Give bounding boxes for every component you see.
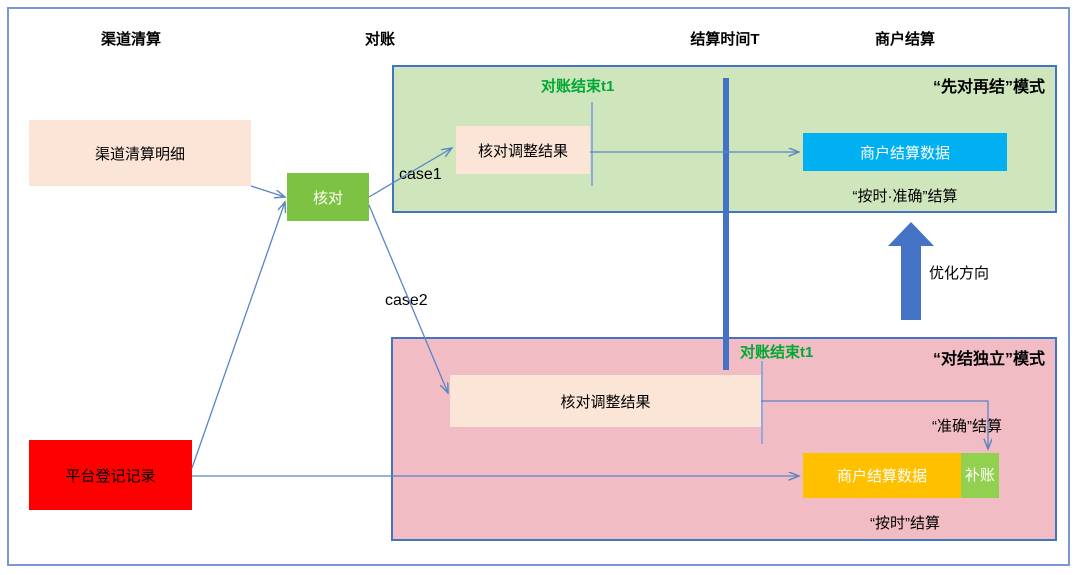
node-platform-record-label: 平台登记记录	[65, 465, 155, 486]
note-ontime-accurate-settlement: “按时·准确”结算	[853, 185, 958, 206]
t1-marker-line-bottom	[761, 361, 763, 444]
column-header-merchant-settlement: 商户结算	[875, 28, 935, 49]
node-channel-clearing-detail[interactable]: 渠道清算明细	[29, 120, 251, 186]
node-adjust-result-top[interactable]: 核对调整结果	[456, 126, 590, 174]
column-header-reconciliation: 对账	[365, 28, 395, 49]
node-merchant-settlement-data-bottom[interactable]: 商户结算数据	[803, 453, 961, 498]
edge-label-case2: case2	[385, 292, 428, 310]
node-merchant-settlement-data-top[interactable]: 商户结算数据	[803, 133, 1007, 171]
note-ontime-settlement: “按时”结算	[870, 512, 940, 533]
node-adjust-result-top-label: 核对调整结果	[478, 140, 568, 161]
panel-title-top: “先对再结”模式	[933, 73, 1045, 97]
node-adjust-result-bottom-label: 核对调整结果	[560, 391, 650, 412]
t1-marker-line-top	[591, 102, 593, 186]
edge-label-case1: case1	[399, 166, 442, 184]
node-merchant-settlement-data-bottom-label: 商户结算数据	[837, 465, 927, 486]
t1-label-top: 对账结束t1	[541, 75, 614, 96]
node-reconcile[interactable]: 核对	[287, 173, 369, 221]
optimization-direction-label: 优化方向	[929, 262, 989, 283]
note-accurate-settlement: “准确”结算	[932, 415, 1002, 436]
column-header-settlement-time: 结算时间T	[690, 28, 759, 49]
settlement-time-line	[723, 78, 729, 370]
t1-label-bottom: 对账结束t1	[740, 341, 813, 362]
node-merchant-settlement-data-top-label: 商户结算数据	[860, 142, 950, 163]
node-channel-clearing-detail-label: 渠道清算明细	[95, 143, 185, 164]
diagram-canvas: 渠道清算 对账 结算时间T 商户结算 “先对再结”模式 “对结独立”模式 对账结…	[0, 0, 1080, 575]
node-reconcile-label: 核对	[313, 187, 343, 208]
column-header-channel-clearing: 渠道清算	[101, 28, 161, 49]
panel-title-bottom: “对结独立”模式	[933, 345, 1045, 369]
node-adjust-result-bottom[interactable]: 核对调整结果	[450, 375, 761, 427]
node-platform-record[interactable]: 平台登记记录	[29, 440, 192, 510]
node-supplement-account-label: 补账	[965, 468, 995, 483]
node-supplement-account[interactable]: 补账	[961, 453, 999, 498]
